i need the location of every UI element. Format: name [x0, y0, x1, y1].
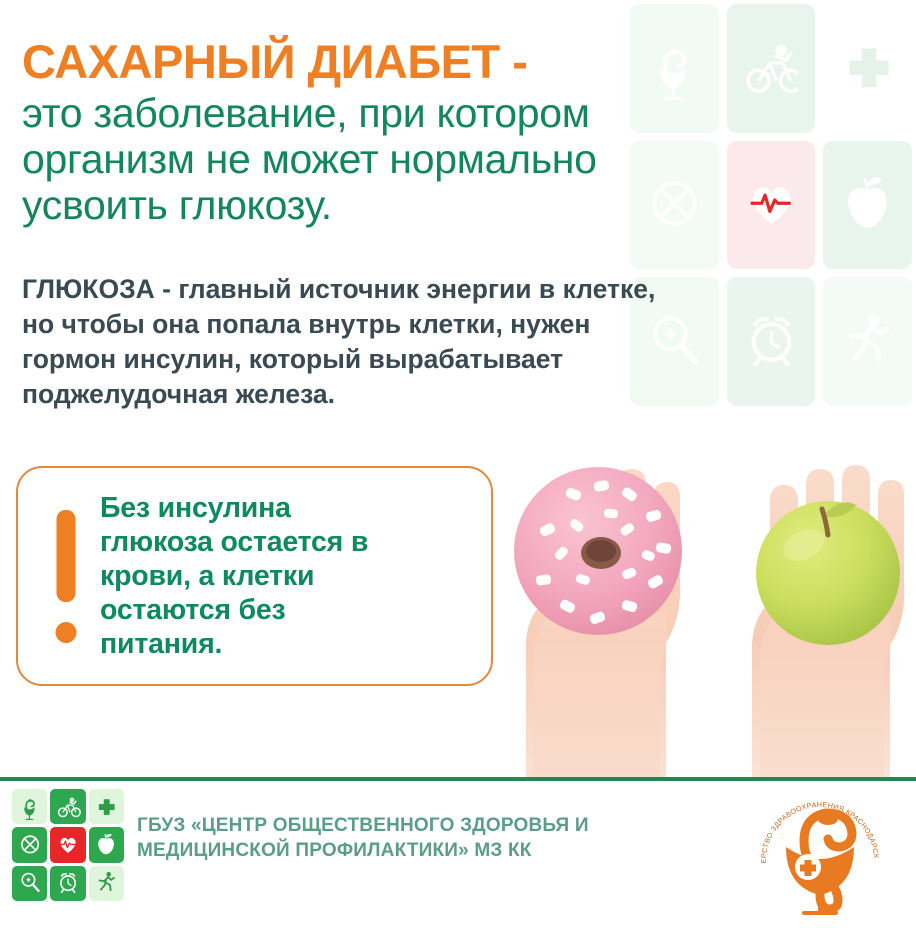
- runner-icon: [93, 870, 119, 896]
- hands-photo: [470, 385, 916, 777]
- apple-icon-tile: [89, 827, 124, 862]
- runner-icon-tile: [89, 866, 124, 901]
- heart-ecg-icon-tile: [50, 827, 85, 862]
- exclamation-bar: [57, 510, 76, 602]
- organization-name: ГБУЗ «ЦЕНТР ОБЩЕСТВЕННОГО ЗДОРОВЬЯ И МЕД…: [137, 813, 697, 864]
- magnifier-plus-icon-tile: [12, 866, 47, 901]
- runner-icon: [840, 302, 895, 382]
- magnifier-plus-icon: [17, 870, 43, 896]
- callout-line: крови, а клетки: [100, 559, 368, 593]
- alarm-clock-icon-tile: [50, 866, 85, 901]
- body-paragraph: ГЛЮКОЗА - главный источник энергии в кле…: [22, 272, 792, 412]
- footer-icon-grid: [12, 789, 124, 901]
- callout-line: питания.: [100, 627, 368, 661]
- callout-text: Без инсулина глюкоза остается в крови, а…: [100, 491, 378, 662]
- page-title: САХАРНЫЙ ДИАБЕТ -: [22, 38, 782, 85]
- body-line: гормон инсулин, который вырабатывает: [22, 342, 792, 377]
- no-smoking-icon: [17, 832, 43, 858]
- heart-ecg-icon: [55, 832, 81, 858]
- subtitle-line: это заболевание, при котором: [22, 91, 782, 137]
- medical-cross-icon: [93, 794, 119, 820]
- callout-line: остаются без: [100, 593, 368, 627]
- subtitle-line: усвоить глюкозу.: [22, 183, 782, 229]
- apple-icon: [93, 832, 119, 858]
- medical-cross-icon-tile: [823, 4, 912, 133]
- body-line: ГЛЮКОЗА - главный источник энергии в кле…: [22, 272, 792, 307]
- no-smoking-icon-tile: [12, 827, 47, 862]
- ministry-logo: МИНИСТЕРСТВО ЗДРАВООХРАНЕНИЯ КРАСНОДАРСК…: [746, 783, 894, 923]
- medical-cross-icon: [840, 28, 895, 108]
- subtitle-line: организм не может нормально: [22, 137, 782, 183]
- callout-line: глюкоза остается в: [100, 525, 368, 559]
- footer: ГБУЗ «ЦЕНТР ОБЩЕСТВЕННОГО ЗДОРОВЬЯ И МЕД…: [0, 781, 916, 928]
- title-block: САХАРНЫЙ ДИАБЕТ - это заболевание, при к…: [22, 38, 782, 229]
- apple-icon-tile: [823, 141, 912, 270]
- medical-cross-icon-tile: [89, 789, 124, 824]
- body-line: но чтобы она попала внутрь клетки, нужен: [22, 307, 792, 342]
- hand-holding-green-apple: [752, 465, 904, 777]
- exclamation-dot: [56, 622, 77, 643]
- callout-line: Без инсулина: [100, 491, 368, 525]
- bowl-of-hygieia-icon-tile: [12, 789, 47, 824]
- runner-icon-tile: [823, 277, 912, 406]
- callout-box: Без инсулина глюкоза остается в крови, а…: [16, 466, 493, 686]
- page-subtitle: это заболевание, при котором организм не…: [22, 91, 782, 229]
- alarm-clock-icon: [55, 870, 81, 896]
- bowl-of-hygieia-icon: [17, 794, 43, 820]
- org-line: ГБУЗ «ЦЕНТР ОБЩЕСТВЕННОГО ЗДОРОВЬЯ И: [137, 813, 697, 838]
- org-line: МЕДИЦИНСКОЙ ПРОФИЛАКТИКИ» МЗ КК: [137, 838, 697, 863]
- cyclist-icon: [55, 794, 81, 820]
- hand-holding-pink-donut: [514, 467, 682, 777]
- cyclist-icon-tile: [50, 789, 85, 824]
- exclamation-mark-icon: [32, 504, 100, 649]
- body-line: поджелудочная железа.: [22, 377, 792, 412]
- apple-icon: [840, 165, 895, 245]
